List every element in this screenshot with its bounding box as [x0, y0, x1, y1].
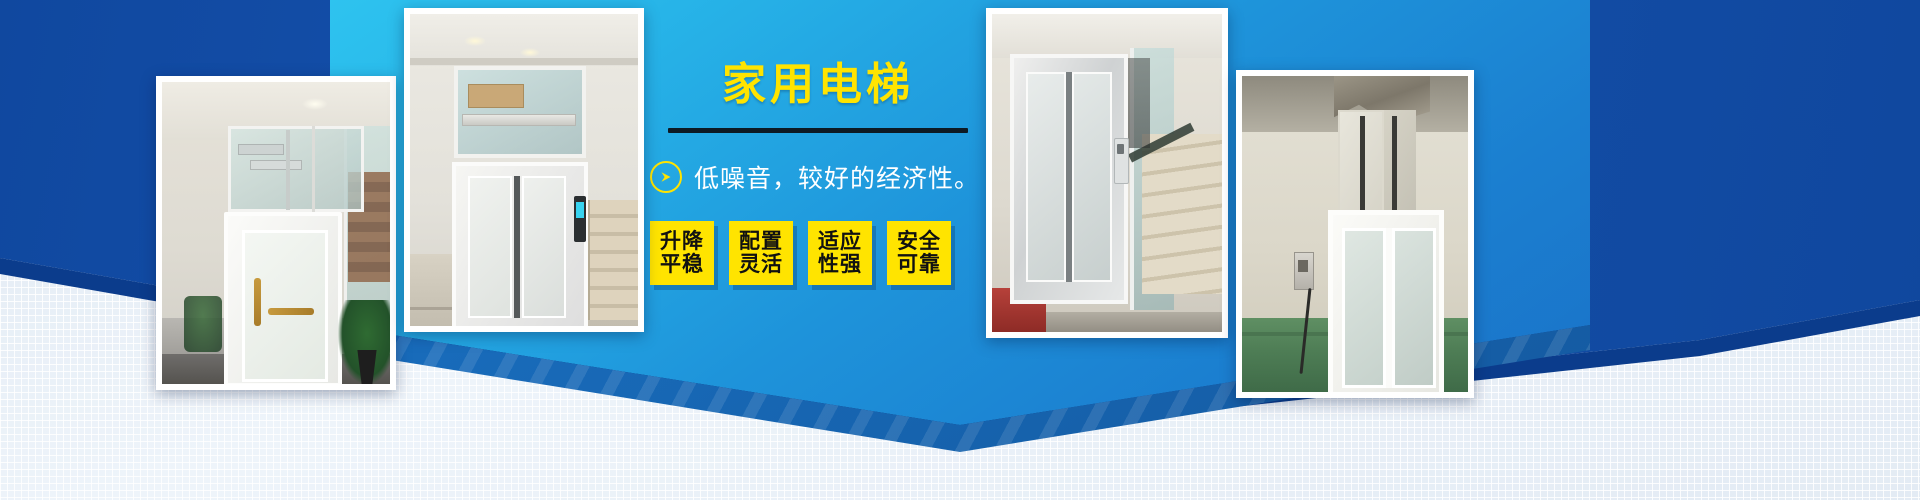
- feature-badge-safe-reliable: 安全 可靠: [887, 221, 951, 285]
- subtitle-text: 低噪音，较好的经济性。: [694, 159, 980, 195]
- badge-line-2: 灵活: [739, 253, 783, 277]
- photo-stainless-steel-elevator-beside-staircase: [986, 8, 1228, 338]
- badge-line-1: 安全: [897, 230, 941, 254]
- feature-badge-list: 升降 平稳 配置 灵活 适应 性强 安全 可靠: [650, 221, 988, 285]
- badge-line-2: 性强: [818, 253, 862, 277]
- photo-modern-elevator-in-hallway-with-stairs: [404, 8, 644, 332]
- feature-badge-smooth-operation: 升降 平稳: [650, 221, 714, 285]
- photo-unfinished-elevator-shaft-installation: [1236, 70, 1474, 398]
- bottom-edge: [0, 440, 1920, 500]
- title-divider: [668, 128, 968, 133]
- page-title: 家用电梯: [648, 62, 988, 108]
- photo-home-elevator-glass-shaft-with-plant: [156, 76, 396, 390]
- feature-badge-high-adaptability: 适应 性强: [808, 221, 872, 285]
- circle-arrow-right-icon: [650, 161, 682, 193]
- home-elevator-banner: 家用电梯 低噪音，较好的经济性。 升降 平稳 配置 灵活 适应 性强: [0, 0, 1920, 500]
- badge-line-2: 可靠: [897, 253, 941, 277]
- feature-badge-flexible-configuration: 配置 灵活: [729, 221, 793, 285]
- badge-line-1: 配置: [739, 230, 783, 254]
- subtitle-row: 低噪音，较好的经济性。: [650, 159, 988, 195]
- badge-line-2: 平稳: [660, 253, 704, 277]
- badge-line-1: 适应: [818, 230, 862, 254]
- banner-content: 家用电梯 低噪音，较好的经济性。 升降 平稳 配置 灵活 适应 性强: [648, 62, 988, 285]
- badge-line-1: 升降: [660, 230, 704, 254]
